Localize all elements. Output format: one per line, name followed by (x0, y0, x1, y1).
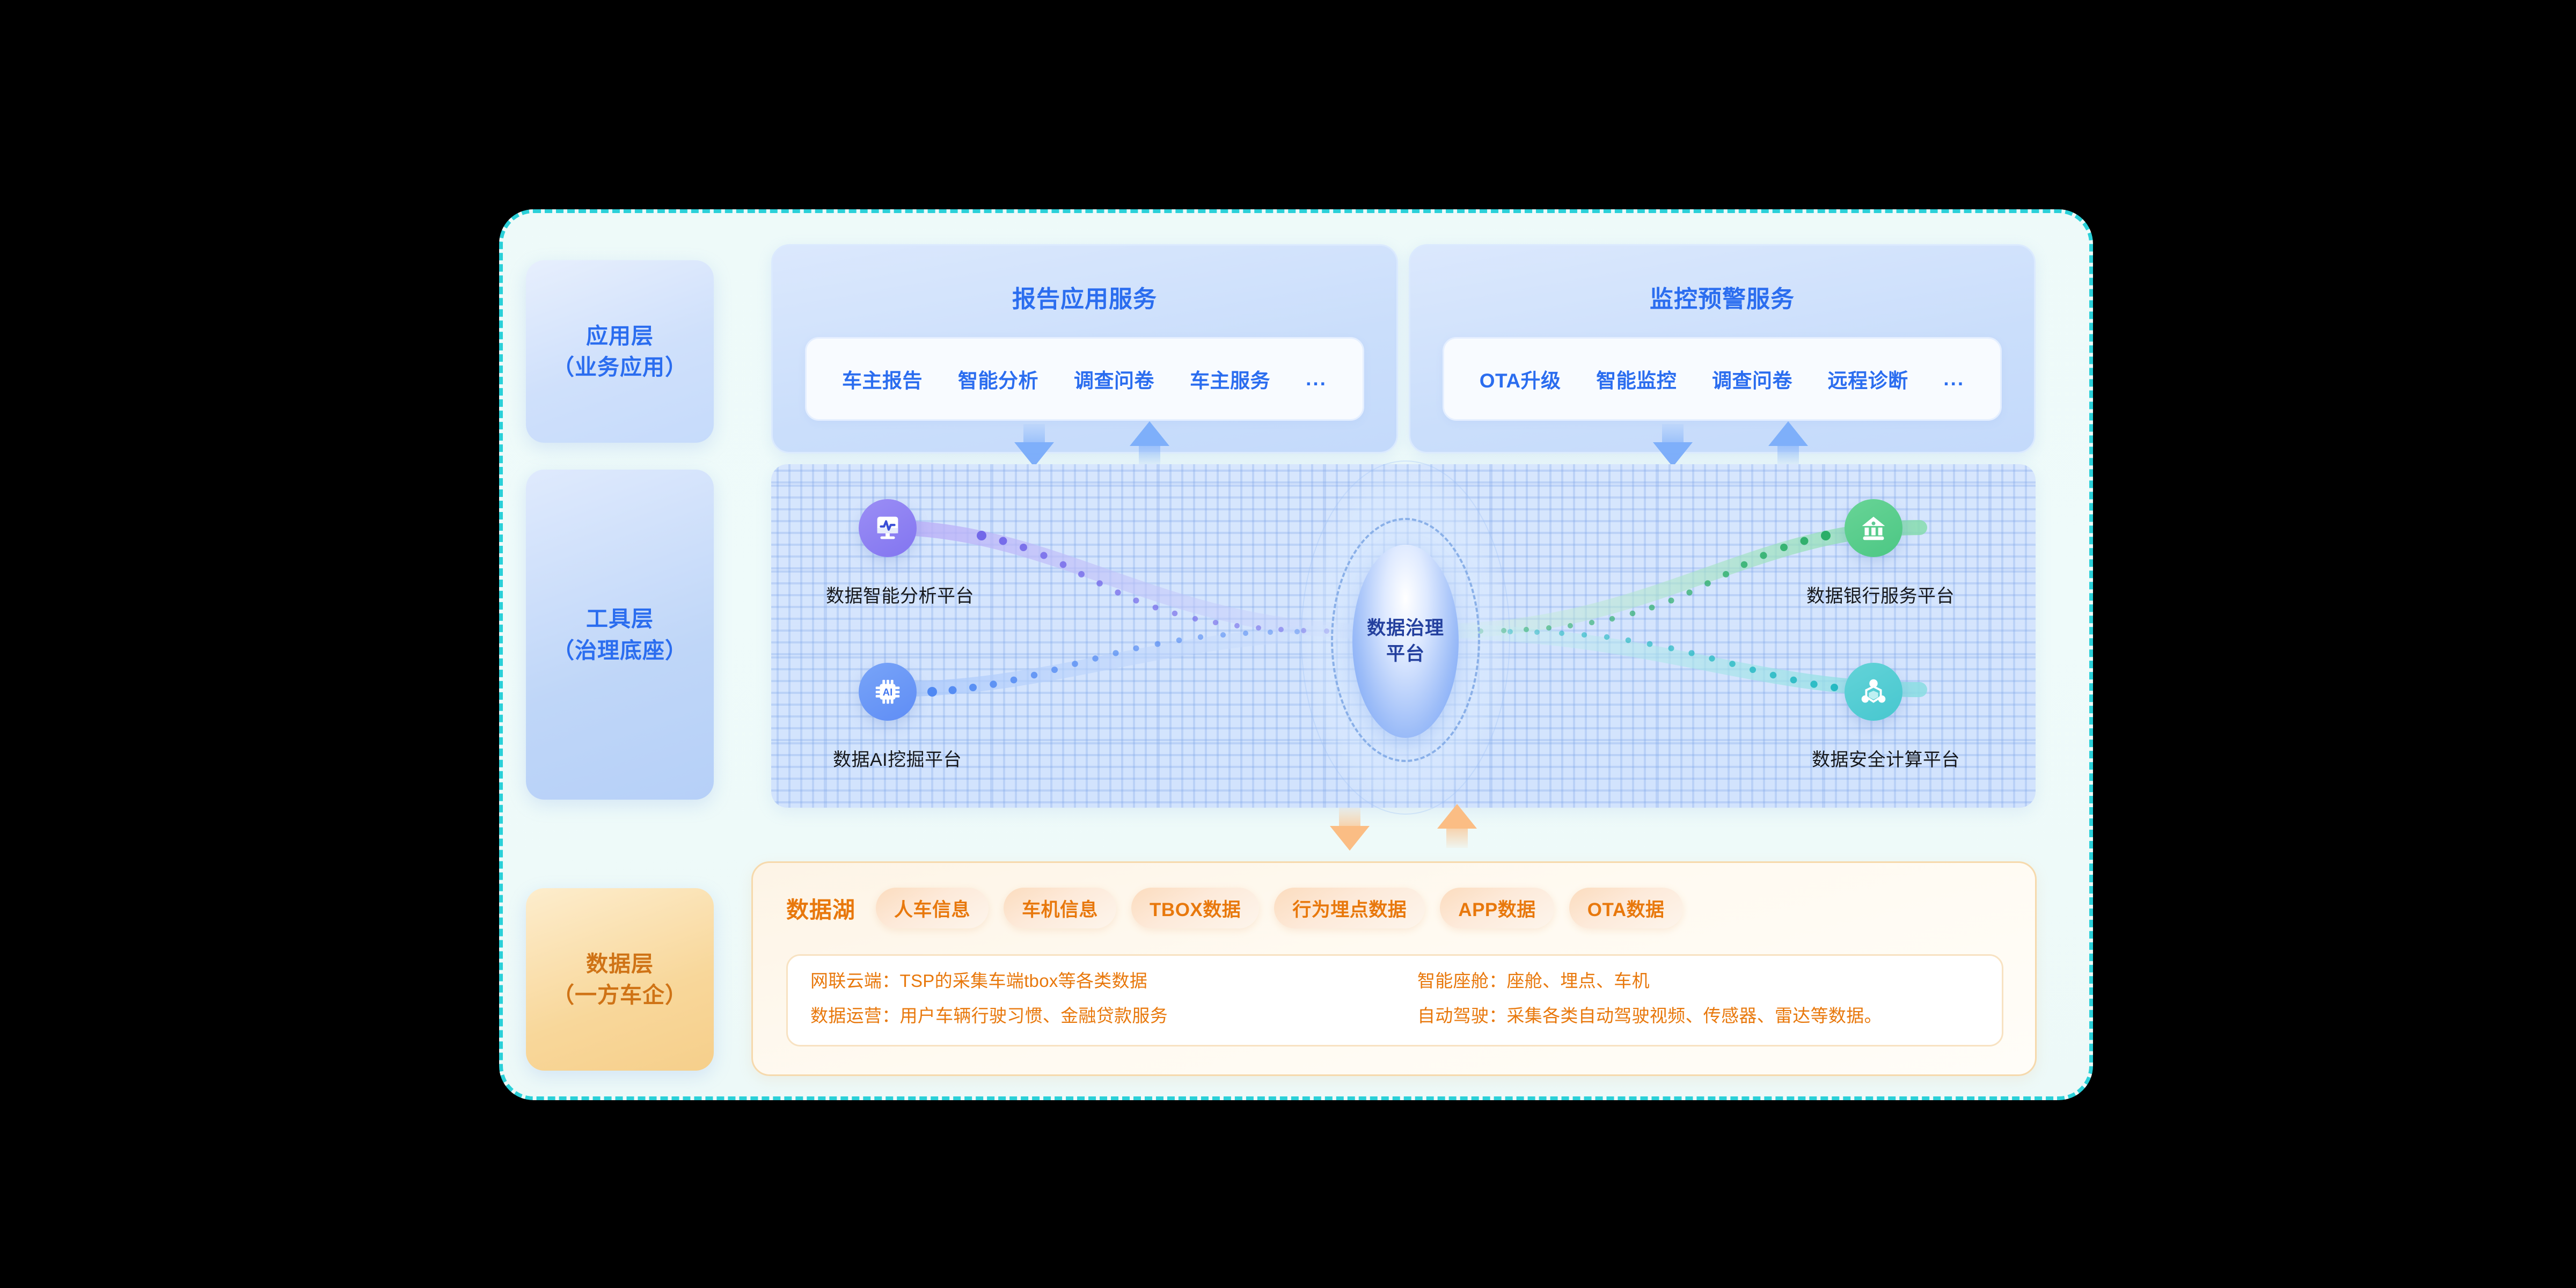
monitor-chart-icon (871, 511, 904, 545)
app-panel-monitor-title: 监控预警服务 (1410, 280, 2034, 314)
bank-icon (1857, 511, 1890, 545)
layer-chip-data-line2: （一方车企） (552, 979, 687, 1011)
layer-chip-tool[interactable]: 工具层 （治理底座） (526, 470, 714, 800)
node-label-data-smart-analysis-platform: 数据智能分析平台 (826, 581, 974, 608)
data-lake-row: 数据湖 人车信息 车机信息 TBOX数据 行为埋点数据 APP数据 OTA数据 (786, 888, 1683, 928)
desc-autonomous-driving: 自动驾驶：采集各类自动驾驶视频、传感器、雷达等数据。 (1417, 1007, 2002, 1024)
app-item-questionnaire[interactable]: 调查问卷 (1074, 364, 1154, 393)
data-description-left-column: 网联云端：TSP的采集车端tbox等各类数据 数据运营：用户车辆行驶习惯、金融贷… (788, 956, 1395, 1045)
desc-connected-cloud: 网联云端：TSP的采集车端tbox等各类数据 (810, 972, 1395, 990)
layer-chip-data[interactable]: 数据层 （一方车企） (526, 888, 714, 1071)
data-description-box: 网联云端：TSP的采集车端tbox等各类数据 数据运营：用户车辆行驶习惯、金融贷… (786, 954, 2003, 1046)
arrow-up-data-to-tool (1437, 804, 1477, 847)
data-tag-person-vehicle[interactable]: 人车信息 (876, 888, 989, 928)
node-data-ai-mining-platform[interactable]: AI (859, 663, 917, 721)
app-item-smart-analysis[interactable]: 智能分析 (958, 364, 1038, 393)
diagram-canvas: 应用层 （业务应用） 工具层 （治理底座） 数据层 （一方车企） 报告应用服务 … (0, 0, 2576, 1288)
app-item-smart-monitor[interactable]: 智能监控 (1596, 364, 1677, 393)
data-description-right-column: 智能座舱：座舱、埋点、车机 自动驾驶：采集各类自动驾驶视频、传感器、雷达等数据。 (1395, 956, 2002, 1045)
layer-chip-tool-line1: 工具层 (586, 603, 654, 634)
node-label-data-bank-service-platform: 数据银行服务平台 (1806, 581, 1955, 608)
app-panel-monitor-items: OTA升级 智能监控 调查问卷 远程诊断 ... (1443, 337, 2002, 421)
arrow-down-monitor-to-tool (1653, 424, 1693, 467)
app-item-ota-upgrade[interactable]: OTA升级 (1480, 364, 1561, 393)
core-label-line2: 平台 (1386, 641, 1425, 667)
layer-chip-data-line1: 数据层 (586, 948, 654, 979)
app-panel-report-items: 车主报告 智能分析 调查问卷 车主服务 ... (805, 337, 1364, 421)
data-tag-tbox[interactable]: TBOX数据 (1131, 888, 1259, 928)
core-node-data-governance-platform[interactable]: 数据治理 平台 (1352, 545, 1459, 738)
arrow-up-tool-to-report (1130, 421, 1169, 464)
shield-network-icon (1857, 675, 1890, 708)
app-item-owner-service[interactable]: 车主服务 (1190, 364, 1270, 393)
app-item-remote-diagnosis[interactable]: 远程诊断 (1828, 364, 1908, 393)
app-panel-monitor-service[interactable]: 监控预警服务 OTA升级 智能监控 调查问卷 远程诊断 ... (1409, 244, 2036, 453)
data-tag-behavior-tracking[interactable]: 行为埋点数据 (1274, 888, 1425, 928)
layer-chip-application-line1: 应用层 (586, 320, 654, 352)
svg-text:AI: AI (883, 686, 892, 698)
app-panel-report-service[interactable]: 报告应用服务 车主报告 智能分析 调查问卷 车主服务 ... (771, 244, 1398, 453)
ai-chip-icon: AI (871, 675, 904, 708)
data-tag-vehicle-machine[interactable]: 车机信息 (1004, 888, 1116, 928)
layer-chip-tool-line2: （治理底座） (552, 635, 687, 666)
desc-smart-cockpit: 智能座舱：座舱、埋点、车机 (1417, 972, 2002, 990)
data-tag-app[interactable]: APP数据 (1440, 888, 1554, 928)
data-tag-ota[interactable]: OTA数据 (1569, 888, 1683, 928)
app-item-owner-report[interactable]: 车主报告 (842, 364, 923, 393)
data-lake-title: 数据湖 (786, 892, 855, 925)
arrow-up-tool-to-monitor (1768, 421, 1808, 464)
node-data-bank-service-platform[interactable] (1845, 499, 1902, 557)
core-label-line1: 数据治理 (1367, 616, 1444, 641)
node-label-data-security-computing-platform: 数据安全计算平台 (1812, 745, 1960, 771)
app-item-questionnaire-2[interactable]: 调查问卷 (1712, 364, 1792, 393)
app-panel-report-title: 报告应用服务 (773, 280, 1396, 314)
desc-data-operation: 数据运营：用户车辆行驶习惯、金融贷款服务 (810, 1007, 1395, 1024)
node-data-security-computing-platform[interactable] (1845, 663, 1902, 721)
app-item-more-report[interactable]: ... (1306, 368, 1327, 390)
arrow-down-tool-to-data (1330, 808, 1370, 851)
layer-chip-application-line2: （业务应用） (552, 352, 687, 383)
node-data-smart-analysis-platform[interactable] (859, 499, 917, 557)
node-label-data-ai-mining-platform: 数据AI挖掘平台 (833, 745, 962, 771)
arrow-down-report-to-tool (1014, 424, 1054, 467)
layer-chip-application[interactable]: 应用层 （业务应用） (526, 260, 714, 443)
app-item-more-monitor[interactable]: ... (1943, 368, 1965, 390)
data-layer-panel: 数据湖 人车信息 车机信息 TBOX数据 行为埋点数据 APP数据 OTA数据 … (751, 861, 2037, 1076)
